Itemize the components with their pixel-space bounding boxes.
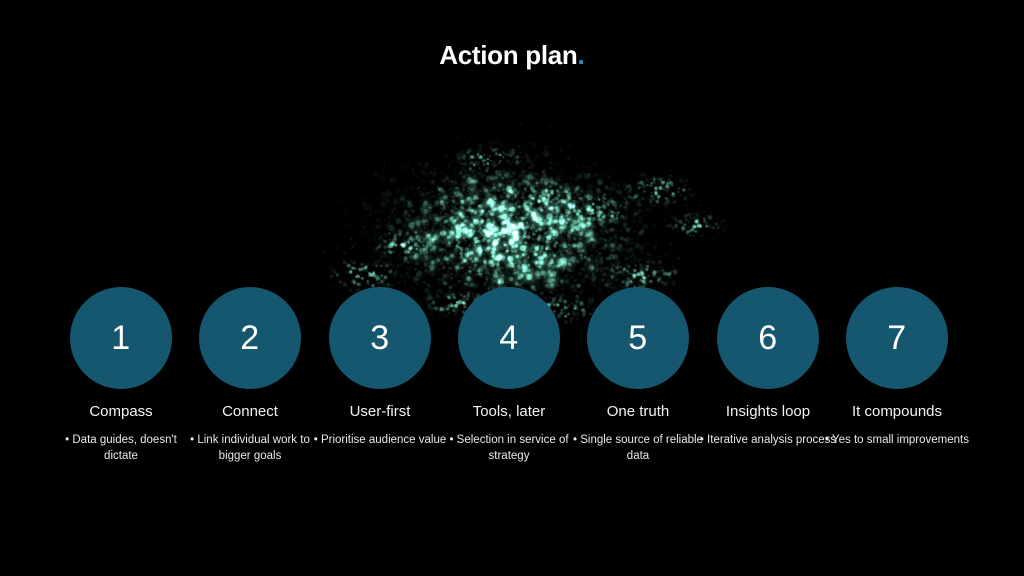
step-circle-2[interactable]: 2	[199, 287, 301, 389]
step-number-7: 7	[887, 321, 906, 355]
step-number-1: 1	[111, 321, 130, 355]
slide-canvas: Action plan. 1 Compass • Data guides, do…	[0, 0, 1024, 576]
step-number-5: 5	[628, 321, 647, 355]
step-item-7[interactable]: 7 It compounds • Yes to small improvemen…	[817, 287, 977, 449]
step-circle-3[interactable]: 3	[329, 287, 431, 389]
page-title: Action plan.	[0, 40, 1024, 71]
step-number-4: 4	[499, 321, 518, 355]
step-circle-6[interactable]: 6	[717, 287, 819, 389]
step-number-2: 2	[240, 321, 259, 355]
page-title-accent-dot: .	[578, 40, 585, 71]
step-label-7: It compounds	[817, 403, 977, 421]
step-number-3: 3	[370, 321, 389, 355]
page-title-text: Action plan	[439, 40, 577, 71]
step-number-6: 6	[758, 321, 777, 355]
step-circle-1[interactable]: 1	[70, 287, 172, 389]
step-bullet-7: • Yes to small improvements	[817, 433, 977, 449]
steps-row: 1 Compass • Data guides, doesn't dictate…	[0, 0, 1024, 576]
step-circle-5[interactable]: 5	[587, 287, 689, 389]
step-circle-7[interactable]: 7	[846, 287, 948, 389]
step-circle-4[interactable]: 4	[458, 287, 560, 389]
